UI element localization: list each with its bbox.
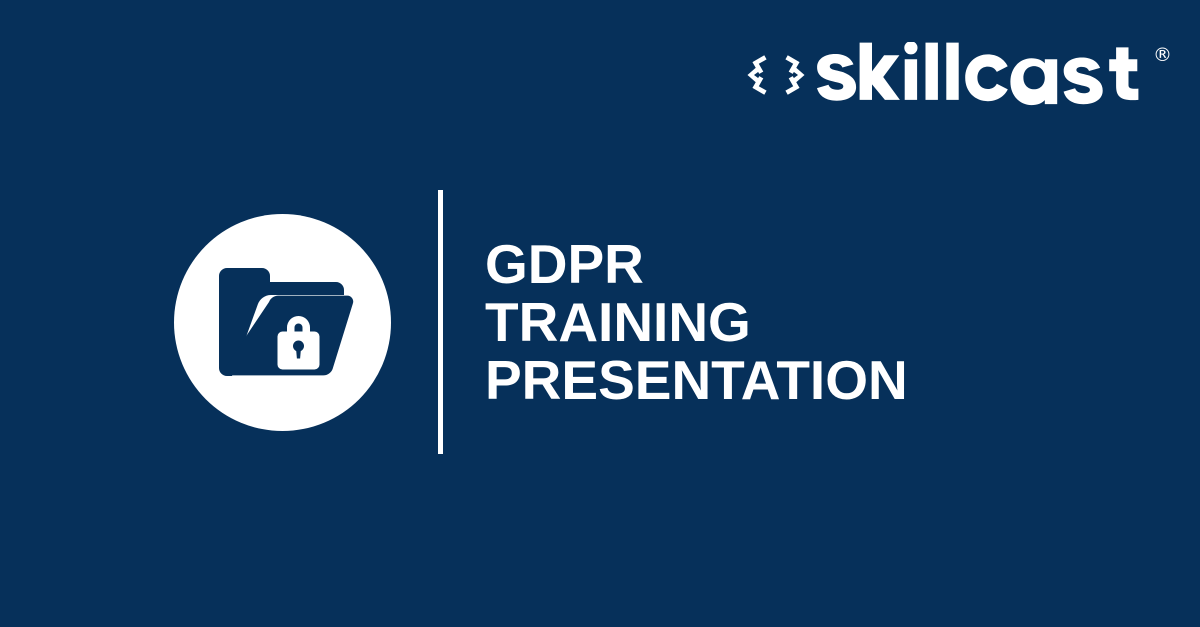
secure-folder-lock-icon bbox=[211, 263, 357, 383]
title-line-2: TRAINING bbox=[485, 293, 908, 351]
skillcast-snowflake-mark-icon bbox=[745, 44, 807, 106]
vertical-divider bbox=[438, 190, 443, 454]
banner-content: GDPR TRAINING PRESENTATION bbox=[0, 186, 1200, 458]
gdpr-training-banner: ® bbox=[0, 0, 1200, 627]
registered-trademark-symbol: ® bbox=[1153, 46, 1172, 65]
secure-folder-badge bbox=[174, 214, 391, 431]
page-title: GDPR TRAINING PRESENTATION bbox=[485, 235, 908, 409]
skillcast-wordmark-group: ® bbox=[815, 42, 1172, 108]
title-line-1: GDPR bbox=[485, 235, 908, 293]
title-line-3: PRESENTATION bbox=[485, 351, 908, 409]
skillcast-logo[interactable]: ® bbox=[745, 42, 1172, 108]
skillcast-wordmark bbox=[815, 42, 1151, 108]
